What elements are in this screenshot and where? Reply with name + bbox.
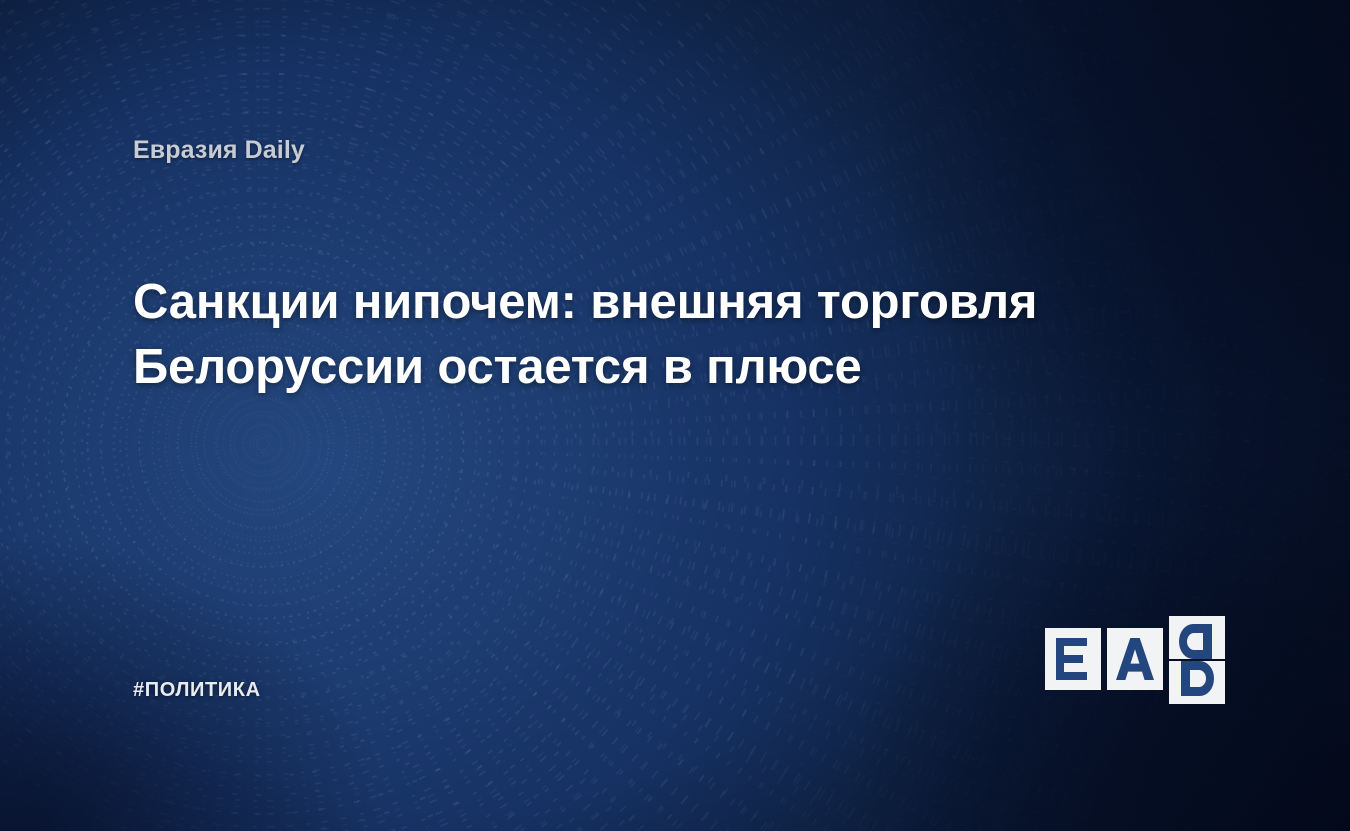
logo-tile-e bbox=[1045, 628, 1101, 690]
letter-d-mirrored-icon bbox=[1177, 616, 1217, 659]
letter-d-icon bbox=[1177, 661, 1217, 704]
card-content: Евразия Daily Санкции нипочем: внешняя т… bbox=[0, 0, 1350, 831]
page-title: Санкции нипочем: внешняя торговля Белору… bbox=[133, 270, 1143, 400]
brand-name: Евразия Daily bbox=[133, 136, 305, 165]
letter-a-icon bbox=[1116, 638, 1154, 680]
category-tag: #ПОЛИТИКА bbox=[133, 679, 261, 702]
logo-tile-d-lower bbox=[1169, 661, 1225, 704]
logo-tile-d-upper bbox=[1169, 616, 1225, 659]
logo-tile-a bbox=[1107, 628, 1163, 690]
article-social-card: Евразия Daily Санкции нипочем: внешняя т… bbox=[0, 0, 1350, 831]
letter-e-icon bbox=[1056, 638, 1090, 680]
eadaily-logo bbox=[1045, 628, 1225, 704]
logo-tile-d-stack bbox=[1169, 616, 1225, 704]
